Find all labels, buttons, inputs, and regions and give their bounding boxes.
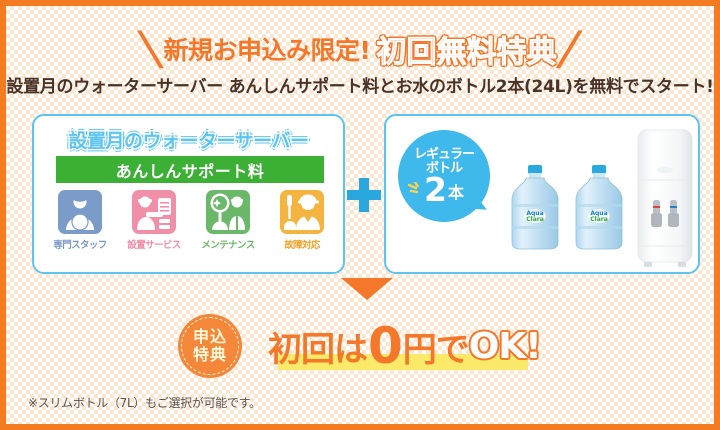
offer-number: 0 (368, 317, 402, 375)
offer-statement: 初回は 0 円で OK! (268, 318, 541, 374)
service-item-installation: 設置サービス (120, 190, 188, 251)
footnote: ※スリムボトル（7L）もご選択が可能です。 (28, 394, 261, 411)
subheadline: 設置月のウォーターサーバー あんしんサポート料とお水のボトル2本(24L)を無料… (6, 72, 714, 97)
service-item-maintenance: メンテナンス (194, 190, 262, 251)
bubble-unit: 本 (448, 185, 464, 202)
svg-text:Clara: Clara (526, 216, 544, 223)
service-label: 設置サービス (127, 237, 180, 251)
offer-ok: OK! (469, 326, 541, 367)
maintenance-icon (206, 190, 250, 234)
svg-text:Clara: Clara (590, 216, 608, 223)
offer-yen: 円で (403, 322, 469, 371)
water-bottle: Aqua Clara (504, 164, 566, 250)
service-label: 故障対応 (284, 237, 320, 251)
application-benefit-badge: 申込 特典 (178, 314, 242, 378)
service-icon-row: 専門スタッフ (46, 190, 336, 251)
headline-lead: 新規お申込み限定! (164, 31, 371, 67)
repair-icon (280, 190, 324, 234)
left-offer-card: 設置月のウォーターサーバー あんしんサポート料 専門スタッフ (32, 114, 345, 274)
left-card-title: 設置月のウォーターサーバー (34, 126, 343, 153)
down-arrow-icon (341, 278, 393, 300)
water-dispenser-icon (634, 128, 696, 270)
staff-icon (58, 190, 102, 234)
right-offer-card: レギュラー ボトル 2 本 (384, 114, 700, 274)
plus-icon (347, 178, 381, 212)
bottle-count-bubble: レギュラー ボトル 2 本 (398, 130, 490, 222)
service-label: 専門スタッフ (53, 237, 106, 251)
sparkle-icon (408, 182, 426, 198)
bubble-count: 2 (424, 175, 447, 205)
service-item-staff: 専門スタッフ (46, 190, 114, 251)
installation-icon (132, 190, 176, 234)
support-fee-band: あんしんサポート料 (56, 156, 324, 183)
offer-prefix: 初回は (268, 322, 367, 371)
promo-banner: \ 新規お申込み限定! 初回無料特典 / 設置月のウォーターサーバー あんしんサ… (0, 0, 720, 430)
service-label: メンテナンス (201, 237, 254, 251)
badge-line1: 申込 (193, 328, 227, 346)
headline: \ 新規お申込み限定! 初回無料特典 / (6, 28, 714, 70)
water-bottle: Aqua Clara (568, 164, 630, 250)
slash-left-icon: \ (135, 26, 165, 72)
headline-emphasis: 初回無料特典 (376, 27, 556, 71)
bubble-line1: レギュラー (414, 148, 474, 162)
service-item-repair: 故障対応 (268, 190, 336, 251)
badge-line2: 特典 (193, 346, 227, 364)
slash-right-icon: / (555, 26, 585, 72)
